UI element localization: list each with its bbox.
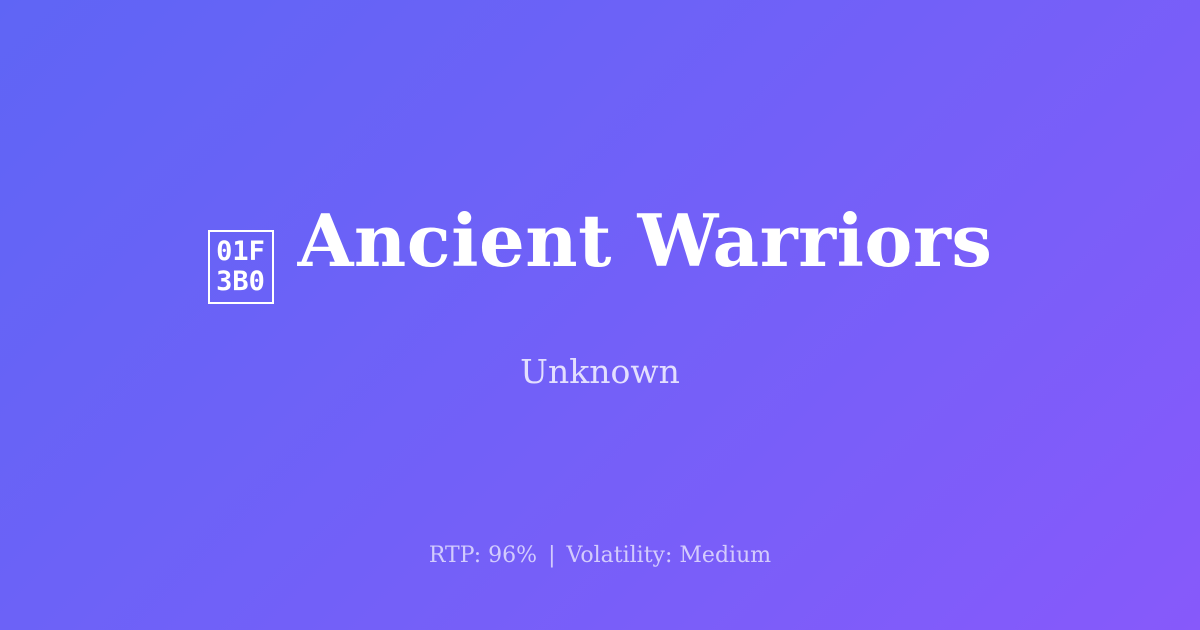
game-title: Ancient Warriors	[298, 202, 993, 280]
slot-machine-icon: 01F 3B0	[208, 230, 274, 304]
volatility-value: Medium	[679, 543, 771, 568]
rtp-label: RTP:	[429, 543, 481, 568]
slot-machine-icon-codepoint-high: 01F	[216, 237, 265, 267]
volatility-label: Volatility:	[567, 543, 673, 568]
slot-machine-icon-codepoint-low: 3B0	[216, 267, 265, 297]
game-provider: Unknown	[520, 352, 680, 392]
game-share-card: 01F 3B0 Ancient Warriors Unknown RTP: 96…	[0, 0, 1200, 630]
title-row: 01F 3B0 Ancient Warriors	[208, 202, 993, 310]
game-stats-line: RTP: 96% | Volatility: Medium	[0, 542, 1200, 570]
hero-section: 01F 3B0 Ancient Warriors Unknown	[0, 0, 1200, 630]
rtp-value: 96%	[488, 543, 537, 568]
stats-separator: |	[544, 543, 559, 568]
